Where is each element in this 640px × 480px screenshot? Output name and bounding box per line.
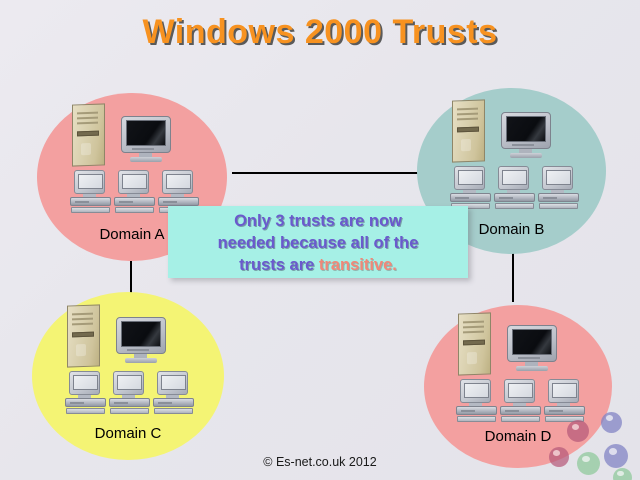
desktop-computer-icon bbox=[456, 379, 497, 423]
crt-monitor-icon bbox=[507, 325, 557, 371]
copyright-footer: © Es-net.co.uk 2012 bbox=[0, 455, 640, 469]
bubble-icon bbox=[613, 468, 632, 480]
bubble-icon bbox=[601, 412, 622, 433]
desktop-computer-icon bbox=[65, 371, 106, 415]
tower-pc-icon bbox=[72, 103, 105, 166]
slide-canvas: Windows 2000 Trusts Domain A Domain B Do… bbox=[0, 0, 640, 480]
trust-link-a-b bbox=[232, 172, 430, 174]
crt-monitor-icon bbox=[116, 317, 166, 363]
callout-line-3-prefix: trusts are bbox=[239, 256, 319, 274]
desktop-computer-icon bbox=[544, 379, 585, 423]
bubble-icon bbox=[567, 420, 589, 442]
trust-link-b-d bbox=[512, 252, 514, 302]
tower-pc-icon bbox=[452, 99, 485, 162]
tower-pc-icon bbox=[67, 304, 100, 367]
desktop-computer-icon bbox=[153, 371, 194, 415]
desktop-computer-icon bbox=[500, 379, 541, 423]
domain-label-c: Domain C bbox=[32, 425, 224, 442]
callout-line-3-accent: transitive. bbox=[319, 256, 397, 274]
page-title: Windows 2000 Trusts bbox=[0, 13, 640, 52]
computer-cluster-d bbox=[452, 313, 586, 433]
callout-line-3: trusts are transitive. bbox=[168, 254, 468, 276]
desktop-computer-icon bbox=[494, 166, 535, 210]
crt-monitor-icon bbox=[121, 116, 171, 162]
desktop-computer-icon bbox=[70, 170, 111, 214]
desktop-computer-icon bbox=[114, 170, 155, 214]
tower-pc-icon bbox=[458, 312, 491, 375]
desktop-computer-icon bbox=[109, 371, 150, 415]
desktop-computer-icon bbox=[450, 166, 491, 210]
callout-line-1: Only 3 trusts are now bbox=[168, 210, 468, 232]
computer-cluster-c bbox=[61, 305, 195, 425]
crt-monitor-icon bbox=[501, 112, 551, 158]
computer-cluster-b bbox=[446, 100, 580, 220]
callout-textbox[interactable]: Only 3 trusts are now needed because all… bbox=[168, 206, 468, 278]
desktop-computer-icon bbox=[538, 166, 579, 210]
callout-line-2: needed because all of the bbox=[168, 232, 468, 254]
